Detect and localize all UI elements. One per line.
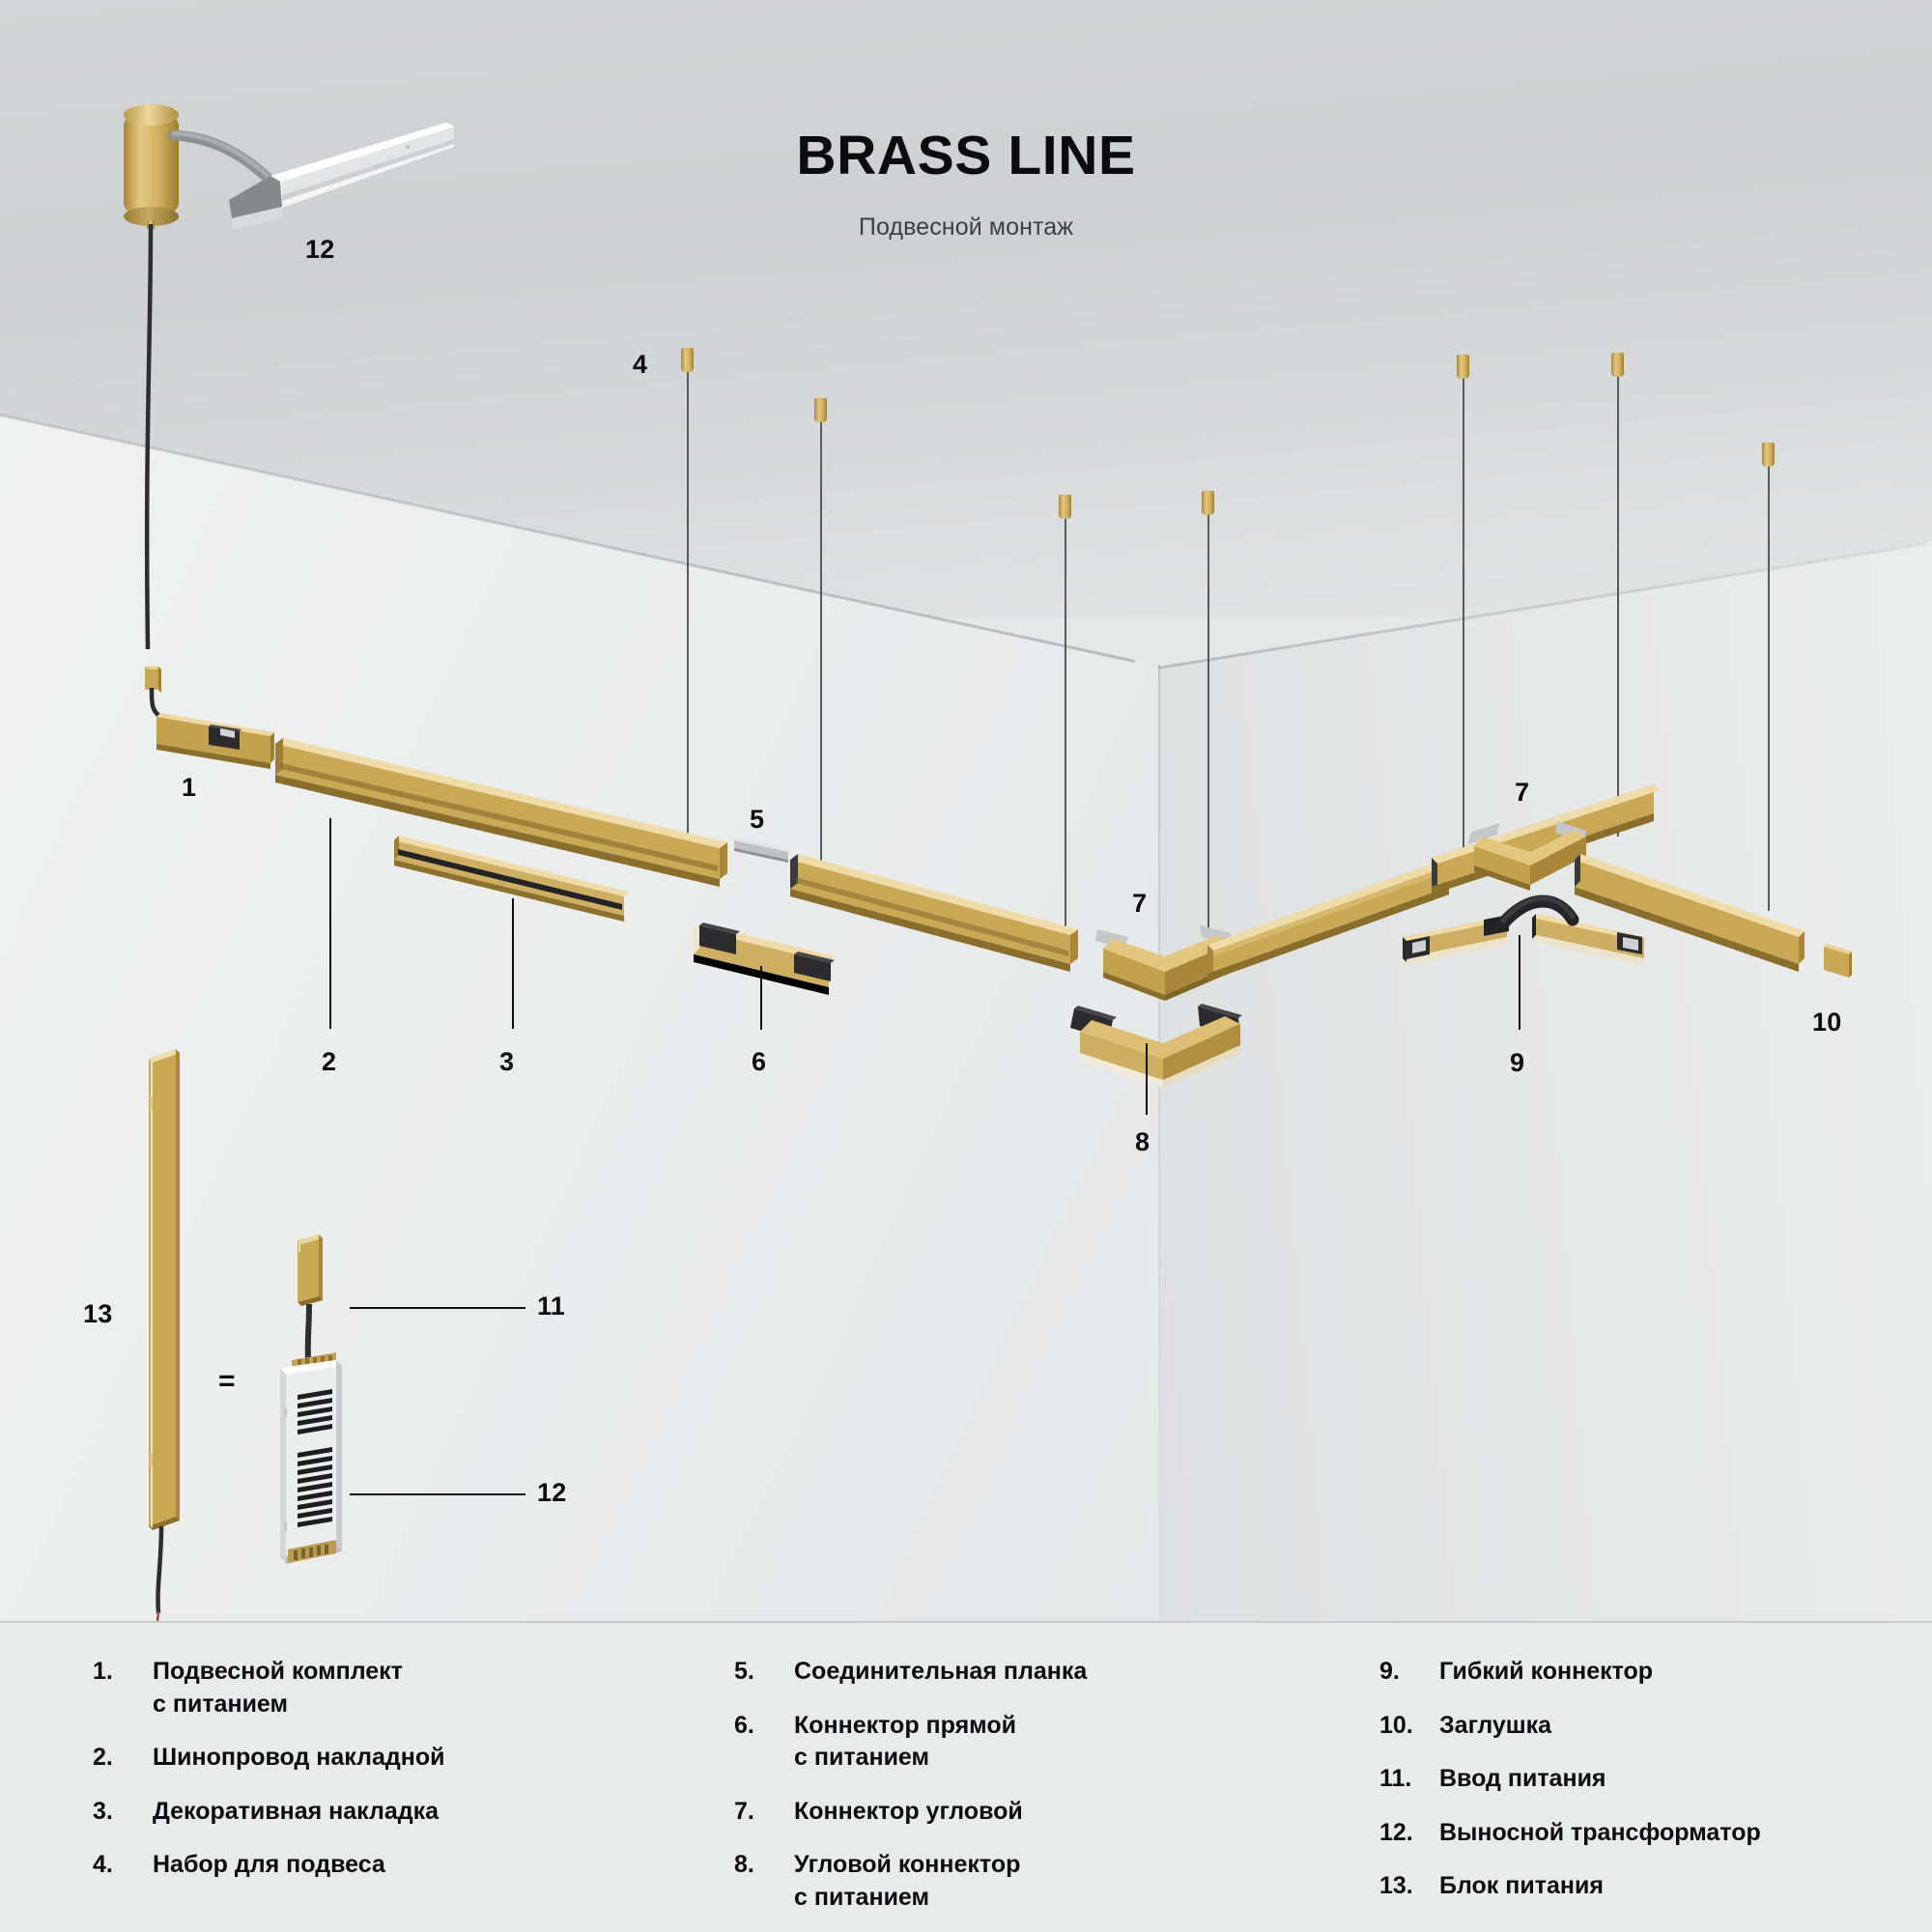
legend-item-label: Набор для подвеса — [153, 1849, 385, 1882]
leader-line-9 — [1519, 935, 1520, 1030]
suspension-cap — [1457, 355, 1469, 379]
suspension-cap — [1059, 495, 1071, 519]
legend-item-number: 1. — [93, 1656, 153, 1720]
legend-item: 10.Заглушка — [1379, 1710, 1882, 1743]
callout-11: 11 — [537, 1292, 565, 1321]
legend-item-number: 8. — [734, 1849, 794, 1914]
callout-3: 3 — [499, 1047, 514, 1077]
callout-10: 10 — [1812, 1008, 1841, 1037]
suspension-cable — [820, 422, 822, 869]
leader-line-8 — [1146, 1043, 1148, 1115]
suspension-cap — [814, 398, 827, 422]
callout-4: 4 — [633, 350, 647, 380]
legend-item: 5.Соединительная планка — [734, 1656, 1179, 1689]
suspension-cable — [1617, 377, 1619, 837]
leader-line-11 — [350, 1307, 526, 1309]
legend-item-number: 7. — [734, 1796, 794, 1829]
item-13-power-supply-bar — [135, 1043, 261, 1621]
callout-8: 8 — [1135, 1127, 1150, 1157]
legend-item: 12.Выносной трансформатор — [1379, 1817, 1882, 1850]
legend-item-number: 12. — [1379, 1817, 1439, 1850]
legend-item: 7.Коннектор угловой — [734, 1796, 1179, 1829]
page-subtitle: Подвесной монтаж — [0, 213, 1932, 241]
legend-item-number: 10. — [1379, 1710, 1439, 1743]
legend-item-label: Выносной трансформатор — [1439, 1817, 1761, 1850]
pendant-drop-cable — [116, 224, 174, 688]
suspension-cap — [681, 348, 694, 372]
legend-item: 6.Коннектор прямойс питанием — [734, 1710, 1179, 1775]
callout-1: 1 — [182, 773, 196, 803]
legend-item-label: Шинопровод накладной — [153, 1742, 445, 1775]
legend-column-2: 5.Соединительная планка6.Коннектор прямо… — [734, 1656, 1179, 1932]
legend-column-1: 1.Подвесной комплектс питанием2.Шинопров… — [93, 1656, 547, 1903]
callout-5: 5 — [750, 805, 764, 835]
leader-line-2 — [329, 818, 331, 1029]
item-3-decorative-cover — [394, 833, 713, 958]
callout-7-right: 7 — [1515, 778, 1529, 808]
track-segment-to-corner — [790, 850, 1109, 985]
legend-item-label: Декоративная накладка — [153, 1796, 439, 1829]
legend-item-number: 11. — [1379, 1763, 1439, 1796]
legend-item-label: Подвесной комплектс питанием — [153, 1656, 403, 1720]
legend-item-label: Блок питания — [1439, 1870, 1604, 1903]
legend-item-number: 9. — [1379, 1656, 1439, 1689]
legend-item: 2.Шинопровод накладной — [93, 1742, 547, 1775]
legend-item: 13.Блок питания — [1379, 1870, 1882, 1903]
legend-item-label: Коннектор прямойс питанием — [794, 1710, 1016, 1775]
legend-item-label: Соединительная планка — [794, 1656, 1087, 1689]
callout-7-left: 7 — [1132, 889, 1147, 919]
room-scene: 12 4 — [0, 0, 1932, 1621]
leader-line-12 — [350, 1493, 526, 1495]
item-12-remote-transformer — [276, 1352, 402, 1594]
item-8-corner-powered-connector — [1070, 987, 1254, 1103]
legend-item: 11.Ввод питания — [1379, 1763, 1882, 1796]
legend-panel: 1.Подвесной комплектс питанием2.Шинопров… — [0, 1623, 1932, 1932]
legend-item-number: 6. — [734, 1710, 794, 1775]
legend-item-label: Коннектор угловой — [794, 1796, 1023, 1829]
legend-column-3: 9.Гибкий коннектор10.Заглушка11.Ввод пит… — [1379, 1656, 1882, 1924]
legend-item-label: Заглушка — [1439, 1710, 1551, 1743]
leader-line-6 — [760, 966, 762, 1030]
callout-6: 6 — [752, 1047, 766, 1077]
callout-9: 9 — [1510, 1048, 1524, 1078]
legend-item-number: 2. — [93, 1742, 153, 1775]
legend-item: 9.Гибкий коннектор — [1379, 1656, 1882, 1689]
product-diagram-page: 12 4 — [0, 0, 1932, 1932]
legend-item-label: Угловой коннекторс питанием — [794, 1849, 1020, 1914]
legend-item: 4.Набор для подвеса — [93, 1849, 547, 1882]
equals-sign: = — [218, 1365, 236, 1398]
callout-13: 13 — [83, 1299, 112, 1329]
callout-12: 12 — [537, 1478, 566, 1508]
suspension-cap — [1611, 353, 1624, 377]
legend-item: 3.Декоративная накладка — [93, 1796, 547, 1829]
legend-item-label: Ввод питания — [1439, 1763, 1606, 1796]
item-1-pendant-feed-kit — [135, 667, 280, 792]
room-corner-edge — [1158, 665, 1160, 1621]
legend-item-number: 5. — [734, 1656, 794, 1689]
callout-2: 2 — [322, 1047, 336, 1077]
suspension-cable — [1768, 467, 1770, 911]
leader-line-3 — [512, 898, 514, 1029]
legend-item: 1.Подвесной комплектс питанием — [93, 1656, 547, 1720]
legend-item-number: 13. — [1379, 1870, 1439, 1903]
legend-item-label: Гибкий коннектор — [1439, 1656, 1653, 1689]
track-far-right — [1575, 850, 1893, 976]
suspension-cap — [1762, 442, 1775, 467]
legend-item-number: 4. — [93, 1849, 153, 1882]
legend-item: 8.Угловой коннекторс питанием — [734, 1849, 1179, 1914]
page-title: BRASS LINE — [0, 124, 1932, 187]
suspension-cap — [1202, 491, 1214, 515]
legend-item-number: 3. — [93, 1796, 153, 1829]
